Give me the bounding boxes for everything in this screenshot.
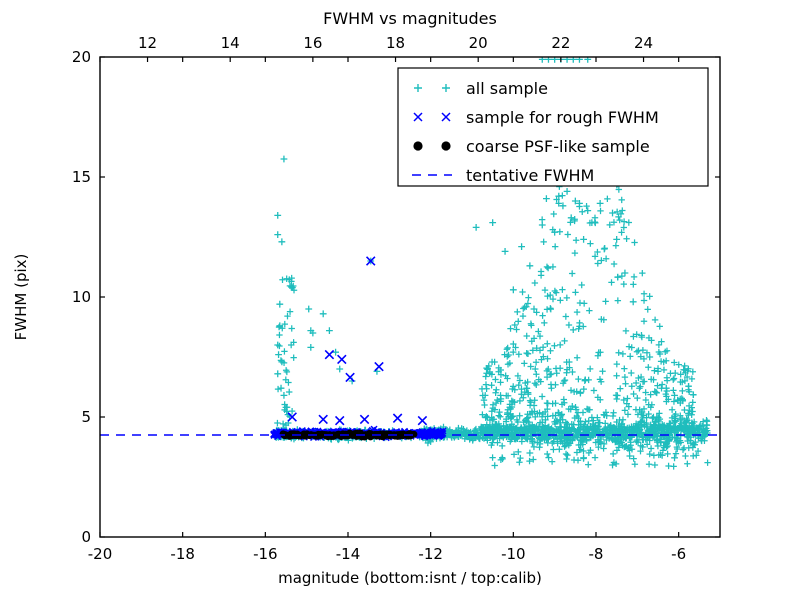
top-x-tick-label: 16 — [303, 34, 322, 52]
scatter-plot: -20-18-16-14-12-10-8-6 12141618202224 05… — [0, 0, 800, 600]
x-tick-label: -10 — [501, 545, 526, 563]
x-tick-label: -18 — [170, 545, 195, 563]
y-tick-label: 0 — [81, 528, 91, 546]
figure-title: FWHM vs magnitudes — [323, 9, 497, 28]
top-x-tick-label: 20 — [469, 34, 488, 52]
legend[interactable]: all samplesample for rough FWHMcoarse PS… — [398, 68, 708, 186]
figure-canvas: -20-18-16-14-12-10-8-6 12141618202224 05… — [0, 0, 800, 600]
top-x-tick-label: 24 — [634, 34, 653, 52]
legend-label: sample for rough FWHM — [466, 108, 659, 127]
y-tick-label: 5 — [81, 408, 91, 426]
x-tick-label: -6 — [671, 545, 686, 563]
top-x-tick-label: 18 — [386, 34, 405, 52]
x-tick-label: -12 — [418, 545, 443, 563]
x-tick-label: -16 — [253, 545, 278, 563]
x-tick-label: -8 — [589, 545, 604, 563]
y-tick-label: 15 — [72, 168, 91, 186]
x-axis-label: magnitude (bottom:isnt / top:calib) — [278, 569, 542, 587]
top-x-tick-label: 12 — [138, 34, 157, 52]
top-x-tick-label: 14 — [221, 34, 240, 52]
x-tick-label: -14 — [336, 545, 361, 563]
x-tick-label: -20 — [88, 545, 113, 563]
top-x-tick-label: 22 — [551, 34, 570, 52]
y-axis-label: FWHM (pix) — [12, 254, 30, 341]
legend-label: all sample — [466, 79, 548, 98]
legend-label: coarse PSF-like sample — [466, 137, 650, 156]
legend-label: tentative FWHM — [466, 166, 594, 185]
y-tick-label: 20 — [72, 48, 91, 66]
y-tick-label: 10 — [72, 288, 91, 306]
